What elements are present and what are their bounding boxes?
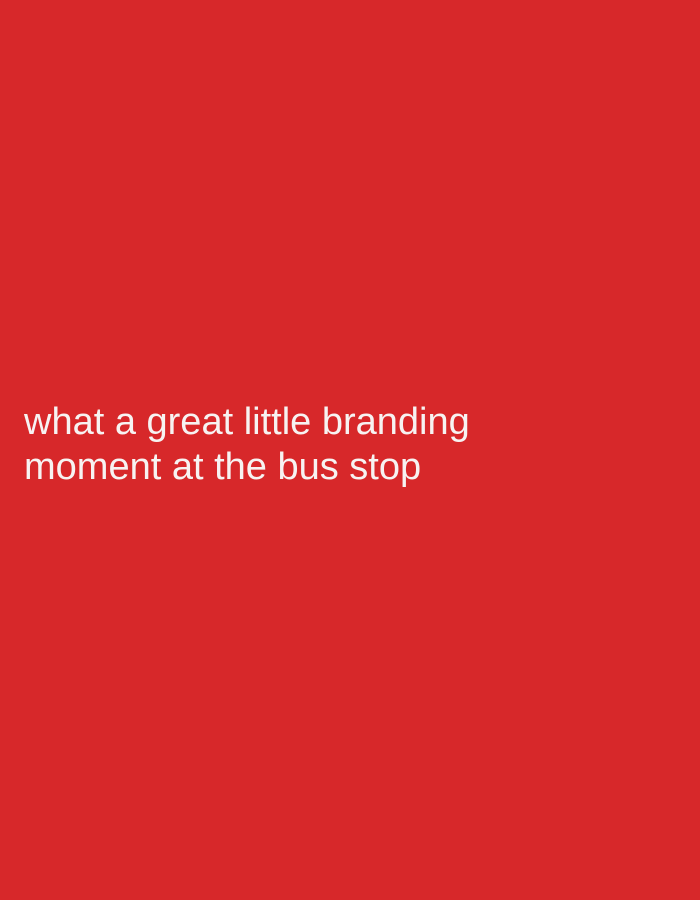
text-card: what a great little branding moment at t… (0, 0, 700, 900)
caption-line-2: moment at the bus stop (24, 445, 664, 490)
caption-line-1: what a great little branding (24, 400, 664, 445)
caption-block: what a great little branding moment at t… (24, 400, 664, 490)
